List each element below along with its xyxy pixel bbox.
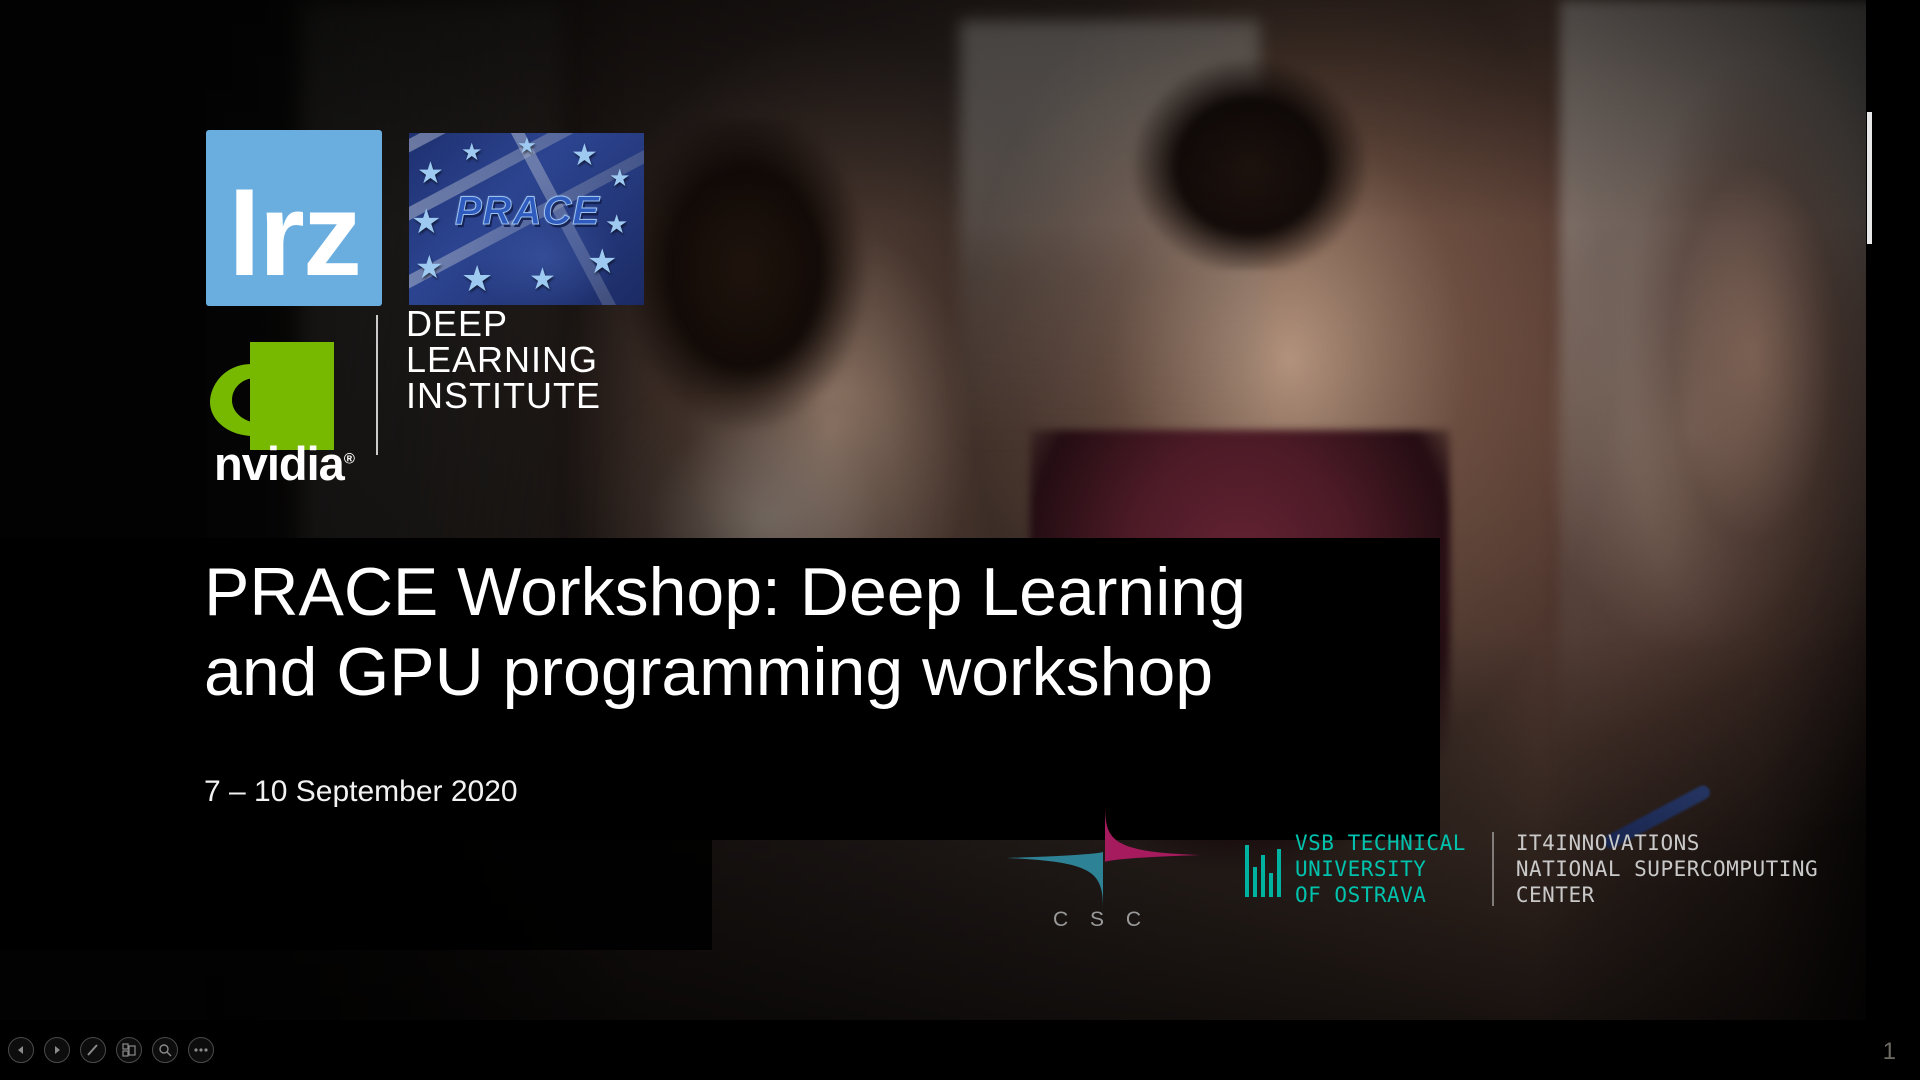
lrz-logo: lrz bbox=[206, 130, 382, 306]
viewer-toolbar bbox=[0, 1020, 1920, 1080]
vsb-it4i-logo: VSB TECHNICAL UNIVERSITY OF OSTRAVA IT4I… bbox=[1245, 830, 1818, 908]
dli-text: DEEP LEARNING INSTITUTE bbox=[406, 306, 601, 414]
title-line-1: PRACE Workshop: Deep Learning bbox=[204, 552, 1434, 632]
dli-line-2: LEARNING bbox=[406, 342, 601, 378]
it4i-text: IT4INNOVATIONS NATIONAL SUPERCOMPUTING C… bbox=[1516, 830, 1818, 908]
dli-line-3: INSTITUTE bbox=[406, 378, 601, 414]
it4i-line-1: IT4INNOVATIONS bbox=[1516, 830, 1818, 856]
slide-title: PRACE Workshop: Deep Learning and GPU pr… bbox=[204, 552, 1434, 712]
vsb-bars-icon bbox=[1245, 841, 1281, 897]
slide-canvas: lrz ★ ★ ★ ★ ★ ★ ★ ★ ★ ★ ★ PRACE bbox=[0, 0, 1872, 1020]
lrz-logo-text: lrz bbox=[228, 181, 360, 306]
prace-logo: ★ ★ ★ ★ ★ ★ ★ ★ ★ ★ ★ PRACE bbox=[409, 133, 644, 305]
nvidia-wordmark: nvidia® bbox=[214, 436, 354, 491]
more-options-icon[interactable] bbox=[188, 1037, 214, 1063]
it4i-divider bbox=[1492, 832, 1494, 906]
page-number: 1 bbox=[1883, 1038, 1896, 1066]
slide-date: 7 – 10 September 2020 bbox=[204, 775, 518, 809]
layout-panels-icon[interactable] bbox=[116, 1037, 142, 1063]
next-slide-button[interactable] bbox=[44, 1037, 70, 1063]
vsb-text: VSB TECHNICAL UNIVERSITY OF OSTRAVA bbox=[1295, 830, 1466, 908]
title-line-2: and GPU programming workshop bbox=[204, 632, 1434, 712]
date-backdrop bbox=[0, 840, 712, 950]
previous-slide-button[interactable] bbox=[8, 1037, 34, 1063]
pen-icon[interactable] bbox=[80, 1037, 106, 1063]
csc-logo: C S C bbox=[1005, 800, 1205, 940]
search-icon[interactable] bbox=[152, 1037, 178, 1063]
nvidia-trademark: ® bbox=[344, 450, 354, 467]
presentation-viewer: lrz ★ ★ ★ ★ ★ ★ ★ ★ ★ ★ ★ PRACE bbox=[0, 0, 1920, 1080]
vsb-line-3: OF OSTRAVA bbox=[1295, 882, 1466, 908]
csc-logo-text: C S C bbox=[1053, 908, 1149, 932]
vsb-line-2: UNIVERSITY bbox=[1295, 856, 1466, 882]
it4i-line-2: NATIONAL SUPERCOMPUTING bbox=[1516, 856, 1818, 882]
scrollbar-thumb[interactable] bbox=[1867, 112, 1872, 244]
vsb-line-1: VSB TECHNICAL bbox=[1295, 830, 1466, 856]
vertical-scrollbar[interactable] bbox=[1866, 0, 1872, 1020]
dli-line-1: DEEP bbox=[406, 306, 601, 342]
prace-logo-text: PRACE bbox=[455, 189, 600, 234]
nvidia-dli-divider bbox=[376, 315, 378, 455]
csc-logo-mark bbox=[1005, 800, 1205, 916]
it4i-line-3: CENTER bbox=[1516, 882, 1818, 908]
nvidia-dli-logo: nvidia® DEEP LEARNING INSTITUTE bbox=[206, 340, 334, 452]
